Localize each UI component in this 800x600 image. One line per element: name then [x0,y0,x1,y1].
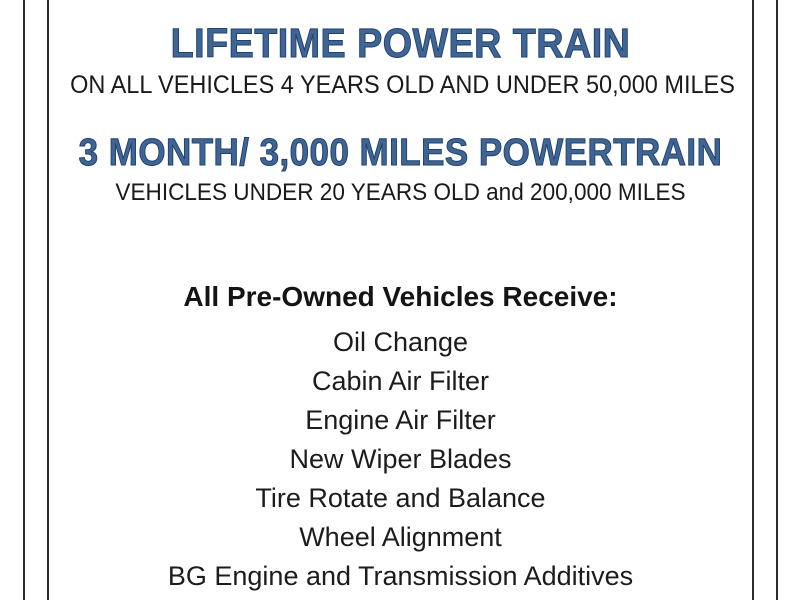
service-item: Tire Rotate and Balance [49,479,752,518]
warranty-block-three-month: 3 MONTH/ 3,000 MILES POWERTRAIN VEHICLES… [49,100,752,207]
warranty-subline-lifetime: ON ALL VEHICLES 4 YEARS OLD AND UNDER 50… [70,72,731,100]
border-rule-right-outer [776,0,778,600]
service-item: Cabin Air Filter [49,362,752,401]
warranty-block-lifetime: LIFETIME POWER TRAIN ON ALL VEHICLES 4 Y… [49,0,752,100]
services-section: All Pre-Owned Vehicles Receive: Oil Chan… [49,283,752,596]
border-rule-left-outer [23,0,25,600]
warranty-headline-lifetime: LIFETIME POWER TRAIN [77,22,724,65]
warranty-subline-three-month: VEHICLES UNDER 20 YEARS OLD and 200,000 … [70,180,731,206]
service-item: Wheel Alignment [49,518,752,557]
border-rule-right-inner [752,0,754,600]
service-item: BG Engine and Transmission Additives [49,557,752,596]
service-item: New Wiper Blades [49,440,752,479]
service-item: Oil Change [49,323,752,362]
flyer-content: LIFETIME POWER TRAIN ON ALL VEHICLES 4 Y… [49,0,752,600]
warranty-headline-three-month: 3 MONTH/ 3,000 MILES POWERTRAIN [77,134,724,174]
warranty-flyer: LIFETIME POWER TRAIN ON ALL VEHICLES 4 Y… [0,0,800,600]
services-list: Oil Change Cabin Air Filter Engine Air F… [49,323,752,596]
service-item: Engine Air Filter [49,401,752,440]
services-title: All Pre-Owned Vehicles Receive: [49,283,752,311]
